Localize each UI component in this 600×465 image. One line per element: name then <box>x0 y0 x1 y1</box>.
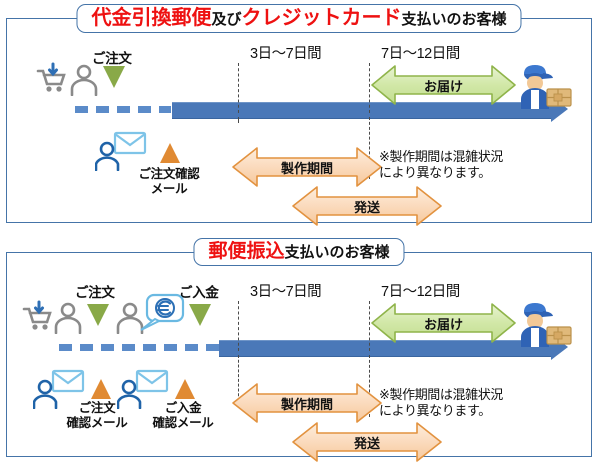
delivery-person-icon <box>513 302 577 348</box>
shipping-arrow: 発送 <box>292 184 442 228</box>
divider-line-1-top <box>238 301 239 351</box>
person-euro-bubble-icon <box>139 293 185 335</box>
payment-mail-caption: ご入金 確認メール <box>135 401 231 431</box>
order-mail-caption: ご注文確認 メール <box>119 167 219 197</box>
period-label-delivery: 7日～12日間 <box>381 42 460 63</box>
timeline-dashed-segment <box>75 106 171 113</box>
title-black-2: 支払いのお客様 <box>285 244 390 261</box>
orange-up-triangle-icon-order <box>91 379 111 399</box>
green-down-triangle-icon <box>87 304 109 326</box>
divider-line-1-top <box>238 63 239 113</box>
timeline-dashed-segment <box>59 344 219 351</box>
panel-postal-transfer: 郵便振込支払いのお客様 ご注文 ご入金 <box>6 252 592 457</box>
green-down-triangle-icon <box>103 66 125 88</box>
person-icon <box>69 64 99 96</box>
period-label-delivery: 7日～12日間 <box>381 280 460 301</box>
period-label-production: 3日～7日間 <box>250 280 321 301</box>
divider-line-2-top <box>369 301 370 351</box>
divider-line-2-top <box>369 63 370 113</box>
period-label-production: 3日～7日間 <box>250 42 321 63</box>
order-mail-caption: ご注文 確認メール <box>49 401 145 431</box>
panel-title-transfer: 郵便振込支払いのお客様 <box>193 238 404 266</box>
person-icon <box>53 302 83 334</box>
delivery-arrow: お届け <box>371 301 516 345</box>
production-note: ※製作期間は混雑状況 により異なります。 <box>379 387 503 420</box>
delivery-arrow: お届け <box>371 63 516 107</box>
title-black-2: 支払いのお客様 <box>402 11 507 28</box>
title-black-1: 及び <box>211 11 241 28</box>
person-mail-icon <box>95 131 147 171</box>
production-note: ※製作期間は混雑状況 により異なります。 <box>379 149 503 182</box>
order-label: ご注文 <box>75 281 115 301</box>
panel-cash-on-delivery: 代金引換郵便及びクレジットカード支払いのお客様 ご注文 <box>6 18 592 223</box>
orange-up-triangle-icon-payment <box>175 379 195 399</box>
divider-line-1-bottom <box>238 117 239 123</box>
title-red-1: 代金引換郵便 <box>91 7 211 29</box>
shopping-cart-icon <box>21 300 55 334</box>
title-red-2: クレジットカード <box>242 7 402 29</box>
delivery-person-icon <box>513 64 577 110</box>
title-red-1: 郵便振込 <box>208 241 284 262</box>
panel-title-cod: 代金引換郵便及びクレジットカード支払いのお客様 <box>76 4 521 33</box>
production-period-arrow: 製作期間 <box>232 145 382 189</box>
orange-up-triangle-icon <box>160 143 180 163</box>
production-period-arrow: 製作期間 <box>232 381 382 425</box>
shipping-arrow: 発送 <box>292 420 442 464</box>
green-down-triangle-icon-payment <box>189 304 211 326</box>
shopping-cart-icon <box>35 62 69 96</box>
